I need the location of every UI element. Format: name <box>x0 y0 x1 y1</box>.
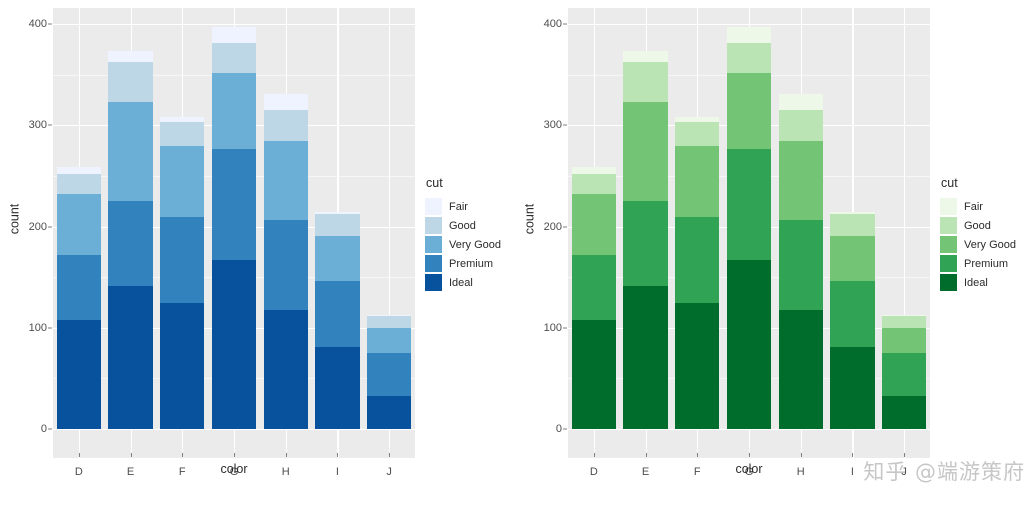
x-tick-mark <box>697 453 698 457</box>
legend-swatch-icon <box>425 198 442 215</box>
bar-E[interactable] <box>108 51 152 429</box>
legend-item-label: Premium <box>964 258 1008 270</box>
bar-segment-very-good[interactable] <box>623 102 667 201</box>
bar-segment-premium[interactable] <box>882 353 926 396</box>
bar-segment-premium[interactable] <box>367 353 411 396</box>
bar-segment-premium[interactable] <box>830 281 874 347</box>
x-axis-title: color <box>53 462 415 476</box>
bar-segment-very-good[interactable] <box>160 146 204 218</box>
bar-segment-premium[interactable] <box>623 201 667 286</box>
bar-E[interactable] <box>623 51 667 429</box>
legend-item-very-good[interactable]: Very Good <box>425 235 513 254</box>
bar-segment-premium[interactable] <box>315 281 359 347</box>
legend-item-label: Ideal <box>964 277 988 289</box>
y-tick-mark <box>48 125 52 126</box>
bar-segment-ideal[interactable] <box>57 320 101 429</box>
y-tick-mark <box>48 226 52 227</box>
legend-swatch-icon <box>425 217 442 234</box>
bar-segment-premium[interactable] <box>57 255 101 320</box>
y-tick-label: 0 <box>537 423 562 435</box>
legend-item-label: Fair <box>964 201 983 213</box>
bar-segment-ideal[interactable] <box>315 347 359 429</box>
legend-item-good[interactable]: Good <box>940 216 1028 235</box>
bar-series-group <box>53 8 415 458</box>
bar-segment-ideal[interactable] <box>675 303 719 429</box>
y-tick-mark <box>563 226 567 227</box>
bar-I[interactable] <box>315 212 359 429</box>
bar-series-group <box>568 8 930 458</box>
y-tick-mark <box>563 125 567 126</box>
bar-segment-ideal[interactable] <box>779 310 823 429</box>
bar-segment-very-good[interactable] <box>315 236 359 282</box>
bar-segment-very-good[interactable] <box>675 146 719 218</box>
bar-segment-fair[interactable] <box>108 51 152 62</box>
bar-segment-premium[interactable] <box>675 217 719 303</box>
bar-F[interactable] <box>675 117 719 429</box>
blue-stacked-bar-chart: count 0100200300400 DEFGHIJ color cut Fa… <box>0 0 515 508</box>
bar-segment-fair[interactable] <box>882 315 926 316</box>
y-axis-tick-labels: 0100200300400 <box>22 0 47 437</box>
bar-segment-good[interactable] <box>882 316 926 328</box>
bar-segment-very-good[interactable] <box>882 328 926 353</box>
plot-panel <box>53 8 415 458</box>
bar-segment-ideal[interactable] <box>830 347 874 429</box>
y-tick-mark <box>563 327 567 328</box>
x-tick-mark <box>131 453 132 457</box>
legend-swatch-icon <box>940 217 957 234</box>
x-axis-title: color <box>568 462 930 476</box>
bar-segment-premium[interactable] <box>572 255 616 320</box>
bar-segment-good[interactable] <box>160 122 204 145</box>
x-tick-mark <box>749 453 750 457</box>
bar-D[interactable] <box>57 167 101 429</box>
legend-items: FairGoodVery GoodPremiumIdeal <box>425 197 513 292</box>
legend-item-ideal[interactable]: Ideal <box>940 273 1028 292</box>
legend-swatch-icon <box>940 198 957 215</box>
bar-segment-ideal[interactable] <box>108 286 152 429</box>
y-tick-mark <box>48 24 52 25</box>
bar-segment-good[interactable] <box>108 62 152 101</box>
legend-item-premium[interactable]: Premium <box>425 254 513 273</box>
legend-item-label: Very Good <box>449 239 501 251</box>
legend-swatch-icon <box>940 255 957 272</box>
bar-segment-good[interactable] <box>315 214 359 235</box>
bar-segment-good[interactable] <box>572 174 616 194</box>
y-tick-mark <box>563 429 567 430</box>
bar-segment-very-good[interactable] <box>367 328 411 353</box>
bar-segment-good[interactable] <box>367 316 411 328</box>
y-tick-label: 100 <box>537 322 562 334</box>
bar-segment-good[interactable] <box>212 43 256 72</box>
x-tick-mark <box>182 453 183 457</box>
bar-segment-ideal[interactable] <box>212 260 256 429</box>
bar-segment-very-good[interactable] <box>212 73 256 149</box>
bar-segment-very-good[interactable] <box>572 194 616 255</box>
bar-segment-very-good[interactable] <box>727 73 771 149</box>
bar-segment-good[interactable] <box>727 43 771 72</box>
bar-G[interactable] <box>212 27 256 429</box>
legend-items: FairGoodVery GoodPremiumIdeal <box>940 197 1028 292</box>
chart-pair-container: count 0100200300400 DEFGHIJ color cut Fa… <box>0 0 1031 508</box>
bar-segment-ideal[interactable] <box>160 303 204 429</box>
bar-J[interactable] <box>882 315 926 429</box>
bar-segment-good[interactable] <box>264 110 308 141</box>
bar-segment-fair[interactable] <box>623 51 667 62</box>
bar-segment-good[interactable] <box>779 110 823 141</box>
bar-H[interactable] <box>779 94 823 429</box>
bar-segment-fair[interactable] <box>315 212 359 214</box>
x-tick-mark <box>79 453 80 457</box>
y-tick-label: 0 <box>22 423 47 435</box>
bar-segment-fair[interactable] <box>727 27 771 43</box>
bar-segment-good[interactable] <box>830 214 874 235</box>
bar-segment-very-good[interactable] <box>57 194 101 255</box>
bar-segment-ideal[interactable] <box>264 310 308 429</box>
bar-segment-very-good[interactable] <box>264 141 308 220</box>
legend-item-fair[interactable]: Fair <box>425 197 513 216</box>
y-tick-label: 300 <box>537 119 562 131</box>
bar-F[interactable] <box>160 117 204 429</box>
y-axis-tick-labels: 0100200300400 <box>537 0 562 437</box>
bar-segment-very-good[interactable] <box>830 236 874 282</box>
legend-item-label: Premium <box>449 258 493 270</box>
bar-segment-fair[interactable] <box>675 117 719 122</box>
bar-segment-premium[interactable] <box>212 149 256 260</box>
legend-item-label: Good <box>964 220 991 232</box>
y-tick-label: 200 <box>537 221 562 233</box>
bar-segment-fair[interactable] <box>212 27 256 43</box>
x-tick-mark <box>801 453 802 457</box>
legend-item-label: Fair <box>449 201 468 213</box>
y-tick-label: 100 <box>22 322 47 334</box>
legend: cut FairGoodVery GoodPremiumIdeal <box>940 176 1028 292</box>
bar-segment-premium[interactable] <box>108 201 152 286</box>
legend-swatch-icon <box>425 236 442 253</box>
bar-segment-ideal[interactable] <box>623 286 667 429</box>
bar-segment-very-good[interactable] <box>779 141 823 220</box>
legend-title: cut <box>425 176 513 190</box>
x-tick-mark <box>852 453 853 457</box>
bar-segment-ideal[interactable] <box>882 396 926 429</box>
bar-G[interactable] <box>727 27 771 429</box>
x-tick-mark <box>904 453 905 457</box>
bar-segment-fair[interactable] <box>830 212 874 214</box>
bar-segment-premium[interactable] <box>264 220 308 309</box>
legend-swatch-icon <box>425 255 442 272</box>
x-tick-mark <box>234 453 235 457</box>
bar-segment-premium[interactable] <box>727 149 771 260</box>
legend-item-premium[interactable]: Premium <box>940 254 1028 273</box>
legend-swatch-icon <box>940 236 957 253</box>
bar-segment-ideal[interactable] <box>572 320 616 429</box>
legend-item-very-good[interactable]: Very Good <box>940 235 1028 254</box>
bar-segment-premium[interactable] <box>160 217 204 303</box>
bar-segment-fair[interactable] <box>57 167 101 174</box>
y-tick-mark <box>563 24 567 25</box>
bar-segment-fair[interactable] <box>367 315 411 316</box>
bar-segment-fair[interactable] <box>779 94 823 110</box>
y-tick-label: 400 <box>22 18 47 30</box>
x-tick-mark <box>646 453 647 457</box>
green-stacked-bar-chart: count 0100200300400 DEFGHIJ color cut Fa… <box>515 0 1030 508</box>
x-tick-mark <box>337 453 338 457</box>
bar-segment-good[interactable] <box>57 174 101 194</box>
legend-item-label: Good <box>449 220 476 232</box>
legend-swatch-icon <box>940 274 957 291</box>
bar-segment-very-good[interactable] <box>108 102 152 201</box>
legend-item-ideal[interactable]: Ideal <box>425 273 513 292</box>
y-tick-mark <box>48 327 52 328</box>
y-tick-label: 300 <box>22 119 47 131</box>
legend-item-fair[interactable]: Fair <box>940 197 1028 216</box>
bar-I[interactable] <box>830 212 874 429</box>
bar-segment-fair[interactable] <box>264 94 308 110</box>
x-tick-mark <box>286 453 287 457</box>
legend: cut FairGoodVery GoodPremiumIdeal <box>425 176 513 292</box>
bar-segment-fair[interactable] <box>572 167 616 174</box>
bar-segment-good[interactable] <box>675 122 719 145</box>
bar-H[interactable] <box>264 94 308 429</box>
legend-swatch-icon <box>425 274 442 291</box>
y-tick-mark <box>48 429 52 430</box>
bar-segment-ideal[interactable] <box>367 396 411 429</box>
legend-item-label: Very Good <box>964 239 1016 251</box>
plot-panel <box>568 8 930 458</box>
bar-D[interactable] <box>572 167 616 429</box>
y-tick-label: 400 <box>537 18 562 30</box>
x-tick-mark <box>389 453 390 457</box>
x-tick-mark <box>594 453 595 457</box>
bar-segment-good[interactable] <box>623 62 667 101</box>
legend-title: cut <box>940 176 1028 190</box>
legend-item-good[interactable]: Good <box>425 216 513 235</box>
bar-segment-ideal[interactable] <box>727 260 771 429</box>
bar-segment-premium[interactable] <box>779 220 823 309</box>
legend-item-label: Ideal <box>449 277 473 289</box>
y-tick-label: 200 <box>22 221 47 233</box>
bar-segment-fair[interactable] <box>160 117 204 122</box>
bar-J[interactable] <box>367 315 411 429</box>
